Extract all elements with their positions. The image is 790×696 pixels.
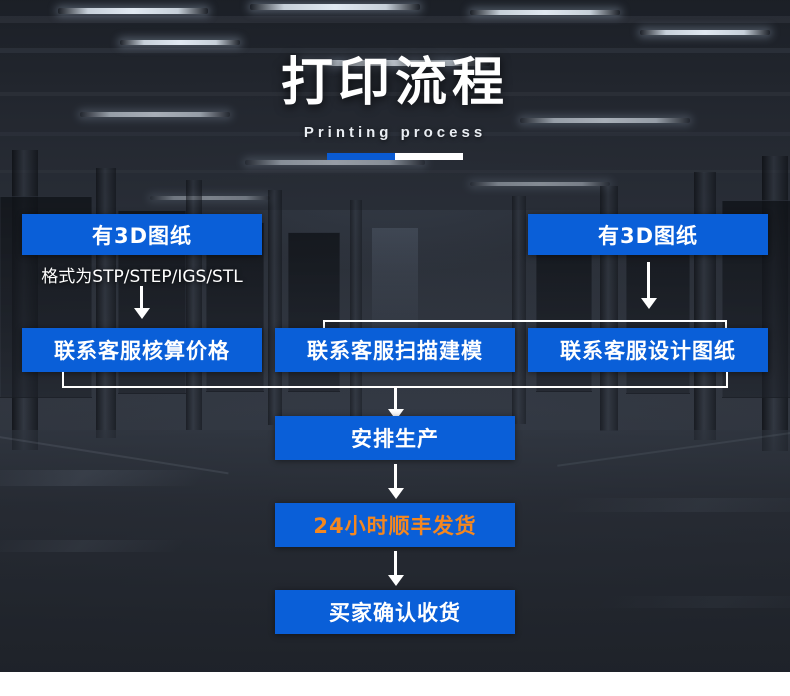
arrow-head-right bbox=[641, 298, 657, 309]
printing-process-poster: 打印流程 Printing process 有3D图纸 格式为STP/STEP/… bbox=[0, 0, 790, 696]
flow-box-row1-left[interactable]: 有3D图纸 bbox=[22, 214, 262, 255]
floor-reflection bbox=[597, 596, 790, 608]
support-pillar bbox=[512, 196, 526, 424]
flow-box-arrange-production[interactable]: 安排生产 bbox=[275, 416, 515, 460]
divider-segment-blue bbox=[327, 153, 395, 160]
flow-box-row2-right[interactable]: 联系客服设计图纸 bbox=[528, 328, 768, 372]
flow-box-shipping[interactable]: 24小时顺丰发货 bbox=[275, 503, 515, 547]
flow-box-row1-right[interactable]: 有3D图纸 bbox=[528, 214, 768, 255]
ceiling-beam bbox=[0, 16, 790, 23]
ceiling-light bbox=[150, 196, 270, 200]
connector-line-to-confirm bbox=[394, 551, 397, 577]
flow-box-row2-middle[interactable]: 联系客服扫描建模 bbox=[275, 328, 515, 372]
ceiling-light bbox=[470, 10, 620, 15]
floor-reflection bbox=[0, 470, 204, 486]
connector-line-left bbox=[140, 286, 143, 310]
support-pillar bbox=[268, 190, 282, 425]
ceiling-light bbox=[250, 4, 420, 10]
title-divider bbox=[327, 153, 463, 160]
support-pillar bbox=[96, 168, 116, 438]
arrow-head-to-confirm bbox=[388, 575, 404, 586]
flow-box-buyer-confirm[interactable]: 买家确认收货 bbox=[275, 590, 515, 634]
ceiling-light bbox=[120, 40, 240, 45]
arrow-head-to-shipping bbox=[388, 488, 404, 499]
divider-segment-white bbox=[395, 153, 463, 160]
bottom-white-strip bbox=[0, 672, 790, 696]
ceiling-light bbox=[245, 160, 425, 165]
arrow-head-left bbox=[134, 308, 150, 319]
ceiling-light bbox=[640, 30, 770, 35]
ceiling-beam bbox=[0, 170, 790, 173]
page-title: 打印流程 bbox=[0, 52, 790, 114]
connector-line-to-shipping bbox=[394, 464, 397, 490]
connector-line-right bbox=[647, 262, 650, 300]
ceiling-light bbox=[470, 182, 610, 186]
page-subtitle: Printing process bbox=[0, 124, 790, 141]
flow-box-row2-left[interactable]: 联系客服核算价格 bbox=[22, 328, 262, 372]
ceiling-light bbox=[58, 8, 208, 14]
floor-reflection bbox=[0, 540, 183, 552]
page-header: 打印流程 Printing process bbox=[0, 52, 790, 160]
flow-caption-format: 格式为STP/STEP/IGS/STL bbox=[22, 262, 262, 287]
floor-reflection bbox=[556, 498, 790, 512]
support-pillar bbox=[694, 172, 716, 440]
